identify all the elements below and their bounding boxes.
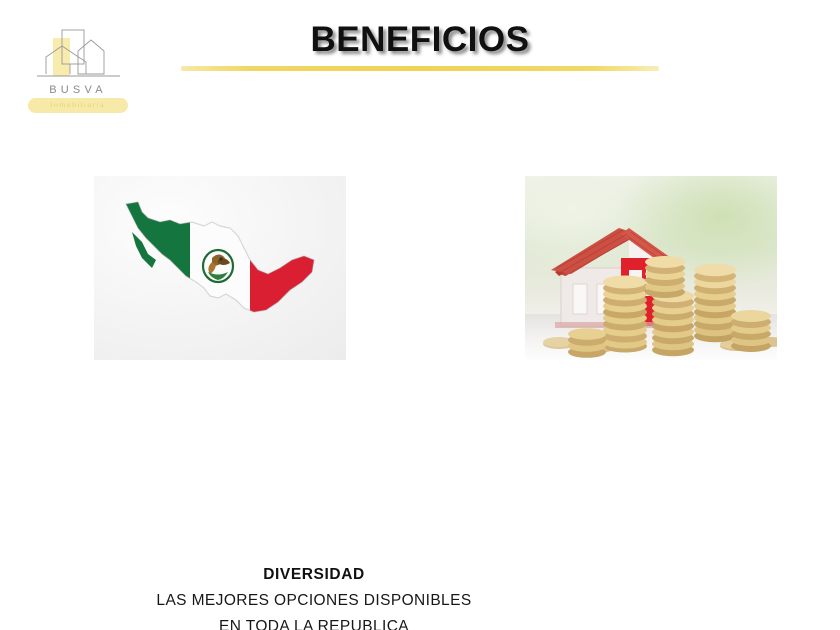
mexico-flag-map-image: [94, 176, 346, 360]
logo-subtitle: Inmobiliaria: [28, 100, 128, 111]
caption-body-line-1: LAS MEJORES OPCIONES DISPONIBLES: [104, 588, 524, 614]
slide-canvas: BUSVA Inmobiliaria BENEFICIOS: [0, 0, 840, 630]
benefit-column-accesibilidad: ACCESIBILIDAD INVERSIONES DE ACUERDO A S…: [525, 176, 777, 360]
caption-body-line-2: EN TODA LA REPUBLICA: [104, 614, 524, 630]
caption-diversidad: DIVERSIDAD LAS MEJORES OPCIONES DISPONIB…: [104, 564, 524, 630]
caption-heading: DIVERSIDAD: [104, 564, 524, 586]
caption-body: LAS MEJORES OPCIONES DISPONIBLES EN TODA…: [104, 588, 524, 630]
page-title: BENEFICIOS: [0, 20, 840, 60]
title-underline-rule: [181, 66, 659, 71]
house-and-coins-image: [525, 176, 777, 360]
logo-wordmark: BUSVA: [24, 84, 132, 96]
benefit-column-diversidad: DIVERSIDAD LAS MEJORES OPCIONES DISPONIB…: [94, 176, 346, 360]
